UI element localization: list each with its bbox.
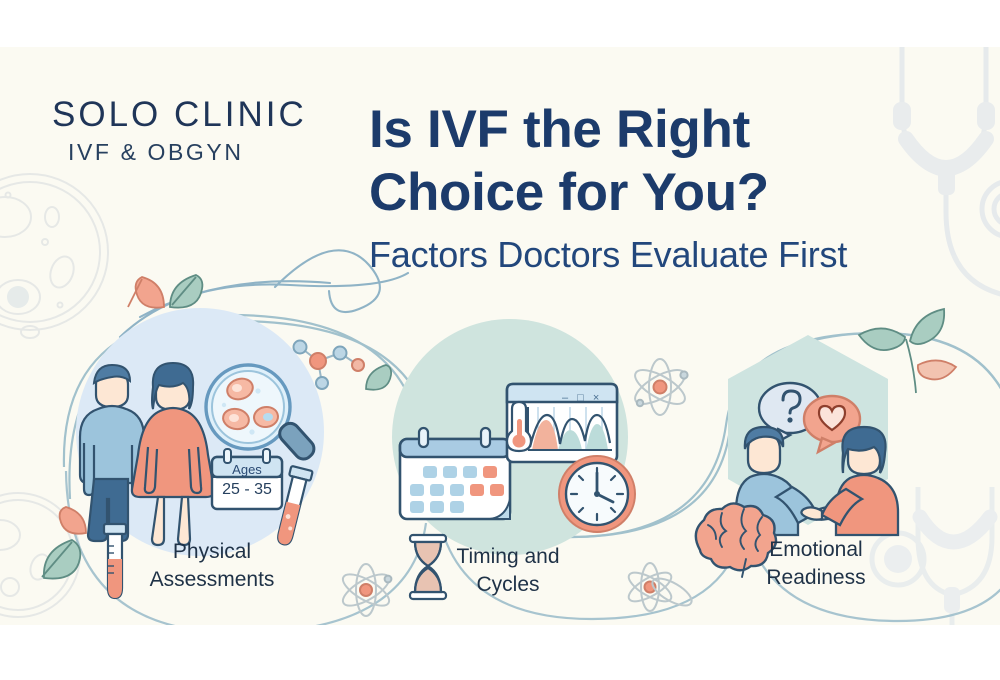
leaf-branch-icon xyxy=(859,309,956,393)
calendar-ages-title: Ages xyxy=(216,462,278,477)
atom-icon xyxy=(630,359,689,415)
headline-line-2: Choice for You? xyxy=(369,162,969,225)
chart-window-controls: – □ × xyxy=(562,392,602,404)
poster-canvas: SOLO CLINIC IVF & OBGYN Is IVF the Right… xyxy=(0,0,1000,680)
brand-name: SOLO CLINIC xyxy=(52,97,372,132)
brand-tagline: IVF & OBGYN xyxy=(68,141,372,164)
leaf-coral-icon xyxy=(128,277,164,308)
panel-1-caption: Physical Assessments xyxy=(96,538,328,594)
panel-3-caption-line-1: Emotional xyxy=(700,536,932,564)
atom-right-icon xyxy=(625,563,676,611)
headline-line-1: Is IVF the Right xyxy=(369,99,969,162)
calendar-ages-range: 25 - 35 xyxy=(214,481,280,499)
headline-block: Is IVF the Right Choice for You? Factors… xyxy=(369,99,969,276)
panel-1-caption-line-1: Physical xyxy=(96,538,328,566)
panel-2-caption: Timing and Cycles xyxy=(412,543,604,599)
poster-plate: SOLO CLINIC IVF & OBGYN Is IVF the Right… xyxy=(0,47,1000,625)
leaf-sage-bottom-icon xyxy=(42,507,86,579)
panel-1-caption-line-2: Assessments xyxy=(96,566,328,594)
molecule-icon xyxy=(294,341,365,390)
panel-3-caption-line-2: Readiness xyxy=(700,564,932,592)
panel-2-caption-line-1: Timing and xyxy=(412,543,604,571)
headline-subtitle: Factors Doctors Evaluate First xyxy=(369,233,969,276)
leaf-sage-icon xyxy=(170,275,202,308)
leaf-sage-mid-icon xyxy=(366,365,391,390)
panel-3-caption: Emotional Readiness xyxy=(700,536,932,592)
atom-bottom-icon xyxy=(338,564,393,616)
brand-logo: SOLO CLINIC IVF & OBGYN xyxy=(52,97,372,164)
panel-2-caption-line-2: Cycles xyxy=(412,571,604,599)
